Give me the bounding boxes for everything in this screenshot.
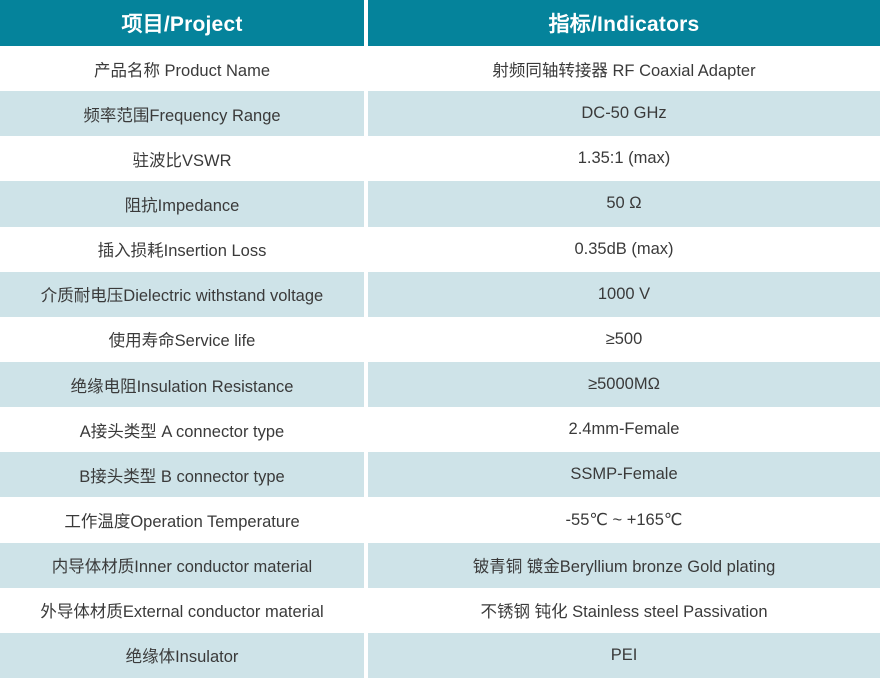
table-row: B接头类型 B connector typeSSMP-Female [0, 452, 880, 497]
cell-project: 内导体材质Inner conductor material [0, 543, 364, 588]
table-row: 阻抗Impedance50 Ω [0, 181, 880, 226]
table-row: 绝缘电阻Insulation Resistance≥5000MΩ [0, 362, 880, 407]
cell-project: 驻波比VSWR [0, 136, 364, 181]
column-header-indicators: 指标/Indicators [368, 0, 880, 46]
cell-indicators: 铍青铜 镀金Beryllium bronze Gold plating [368, 543, 880, 588]
table-row: 使用寿命Service life≥500 [0, 317, 880, 362]
cell-project: 绝缘体Insulator [0, 633, 364, 678]
cell-indicators: 不锈钢 钝化 Stainless steel Passivation [368, 588, 880, 633]
table-row: A接头类型 A connector type2.4mm-Female [0, 407, 880, 452]
table-row: 介质耐电压Dielectric withstand voltage1000 V [0, 272, 880, 317]
cell-indicators: ≥500 [368, 317, 880, 362]
cell-project: B接头类型 B connector type [0, 452, 364, 497]
cell-project: 插入损耗Insertion Loss [0, 227, 364, 272]
cell-indicators: ≥5000MΩ [368, 362, 880, 407]
cell-indicators: 射频同轴转接器 RF Coaxial Adapter [368, 46, 880, 91]
cell-indicators: DC-50 GHz [368, 91, 880, 136]
column-header-project: 项目/Project [0, 0, 364, 46]
cell-indicators: 2.4mm-Female [368, 407, 880, 452]
table-row: 频率范围Frequency RangeDC-50 GHz [0, 91, 880, 136]
table-header: 项目/Project 指标/Indicators [0, 0, 880, 46]
cell-project: 频率范围Frequency Range [0, 91, 364, 136]
cell-indicators: 0.35dB (max) [368, 227, 880, 272]
table-row: 产品名称 Product Name射频同轴转接器 RF Coaxial Adap… [0, 46, 880, 91]
table-row: 绝缘体InsulatorPEI [0, 633, 880, 678]
table-row: 插入损耗Insertion Loss0.35dB (max) [0, 227, 880, 272]
cell-project: 绝缘电阻Insulation Resistance [0, 362, 364, 407]
cell-indicators: -55℃ ~ +165℃ [368, 497, 880, 542]
table-row: 内导体材质Inner conductor material铍青铜 镀金Beryl… [0, 543, 880, 588]
cell-project: 介质耐电压Dielectric withstand voltage [0, 272, 364, 317]
table-body: 产品名称 Product Name射频同轴转接器 RF Coaxial Adap… [0, 46, 880, 678]
table-row: 工作温度Operation Temperature-55℃ ~ +165℃ [0, 497, 880, 542]
cell-project: 工作温度Operation Temperature [0, 497, 364, 542]
cell-indicators: PEI [368, 633, 880, 678]
cell-indicators: 50 Ω [368, 181, 880, 226]
cell-project: 外导体材质External conductor material [0, 588, 364, 633]
header-row: 项目/Project 指标/Indicators [0, 0, 880, 46]
cell-indicators: 1.35:1 (max) [368, 136, 880, 181]
cell-project: A接头类型 A connector type [0, 407, 364, 452]
product-specification-table: 项目/Project 指标/Indicators 产品名称 Product Na… [0, 0, 880, 678]
cell-indicators: SSMP-Female [368, 452, 880, 497]
cell-project: 使用寿命Service life [0, 317, 364, 362]
cell-indicators: 1000 V [368, 272, 880, 317]
table-row: 驻波比VSWR1.35:1 (max) [0, 136, 880, 181]
cell-project: 阻抗Impedance [0, 181, 364, 226]
cell-project: 产品名称 Product Name [0, 46, 364, 91]
table-row: 外导体材质External conductor material不锈钢 钝化 S… [0, 588, 880, 633]
